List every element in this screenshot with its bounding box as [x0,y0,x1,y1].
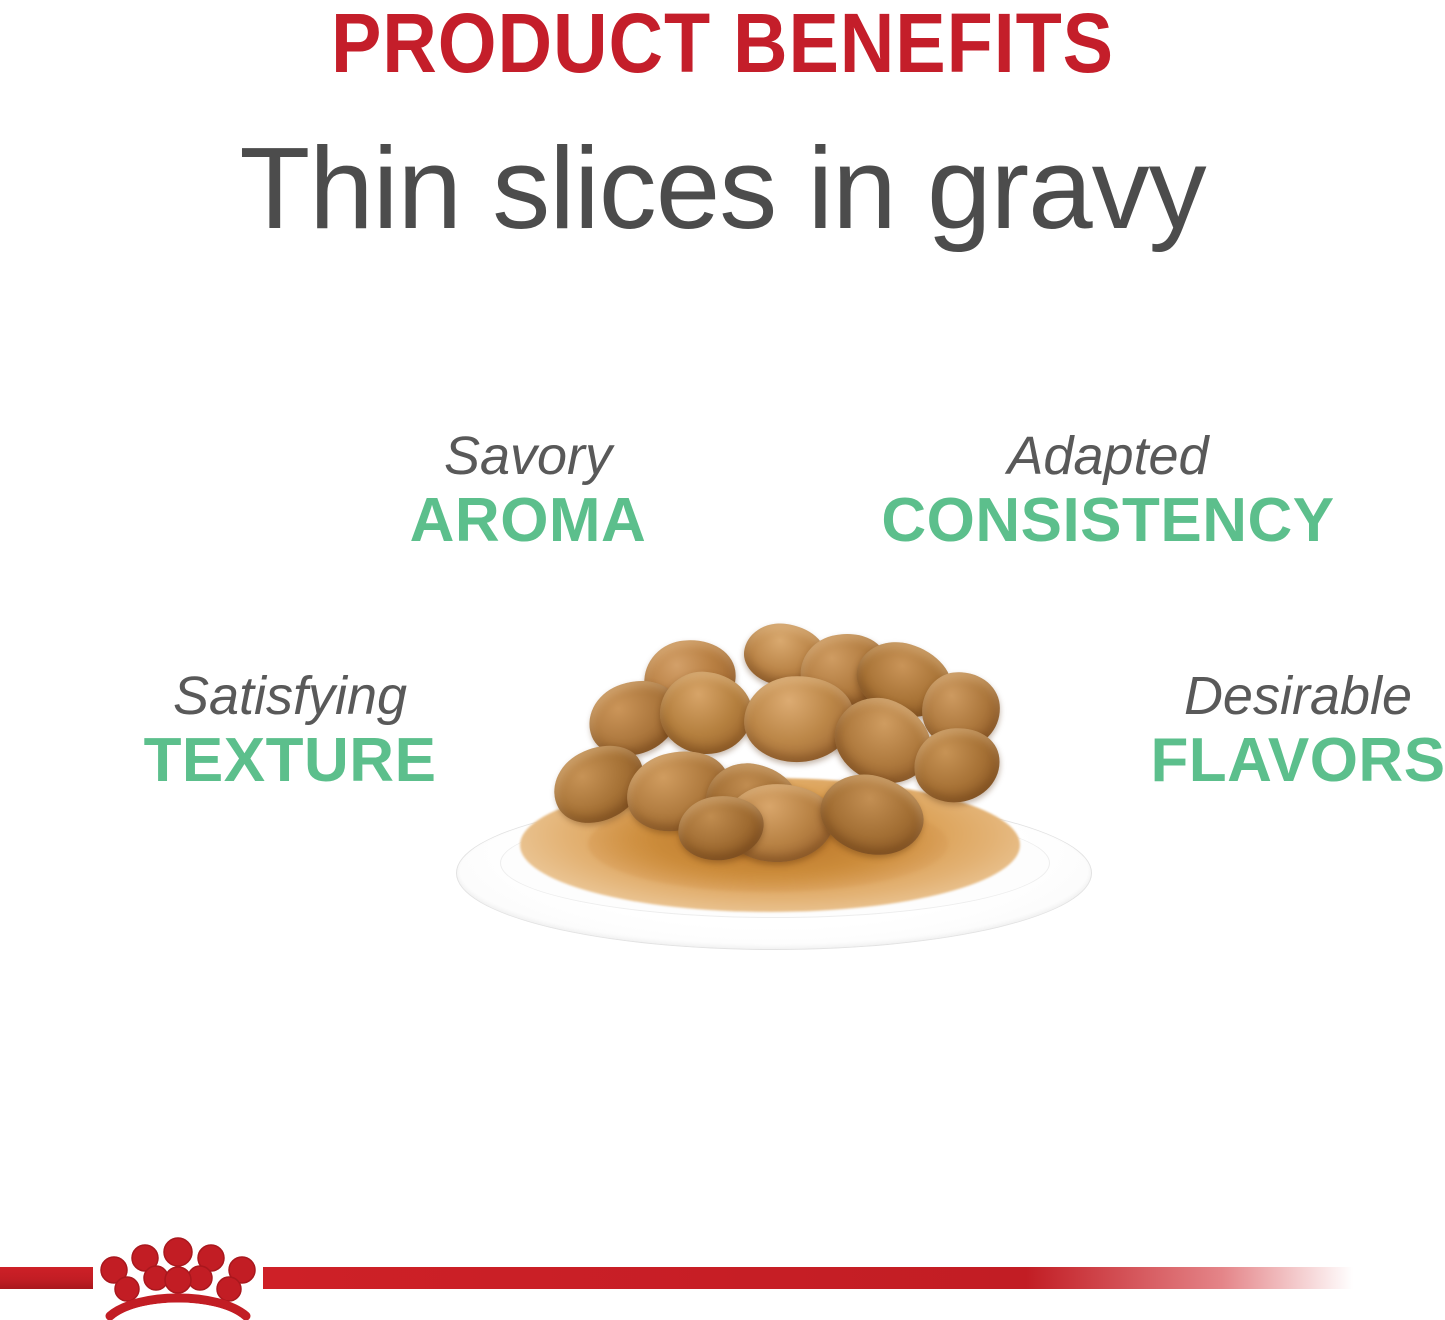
benefit-texture-noun: TEXTURE [140,728,440,794]
product-food-image [448,600,1098,970]
benefit-consistency-adjective: Adapted [878,426,1338,486]
page-subtitle: Thin slices in gravy [0,128,1445,248]
product-benefits-infographic: PRODUCT BENEFITS Thin slices in gravy Sa… [0,0,1445,1320]
benefit-texture: Satisfying TEXTURE [140,666,440,794]
benefit-consistency: Adapted CONSISTENCY [878,426,1338,554]
benefit-flavors: Desirable FLAVORS [1148,666,1445,794]
benefit-consistency-noun: CONSISTENCY [878,488,1338,554]
benefit-aroma-adjective: Savory [408,426,648,486]
benefit-texture-adjective: Satisfying [140,666,440,726]
benefit-flavors-adjective: Desirable [1148,666,1445,726]
royal-canin-crown-logo [96,1236,260,1320]
page-title: PRODUCT BENEFITS [72,0,1373,86]
benefit-aroma: Savory AROMA [408,426,648,554]
benefit-aroma-noun: AROMA [408,488,648,554]
footer-rule-left [0,1267,93,1289]
footer-rule-right [263,1267,1353,1289]
benefit-flavors-noun: FLAVORS [1148,728,1445,794]
